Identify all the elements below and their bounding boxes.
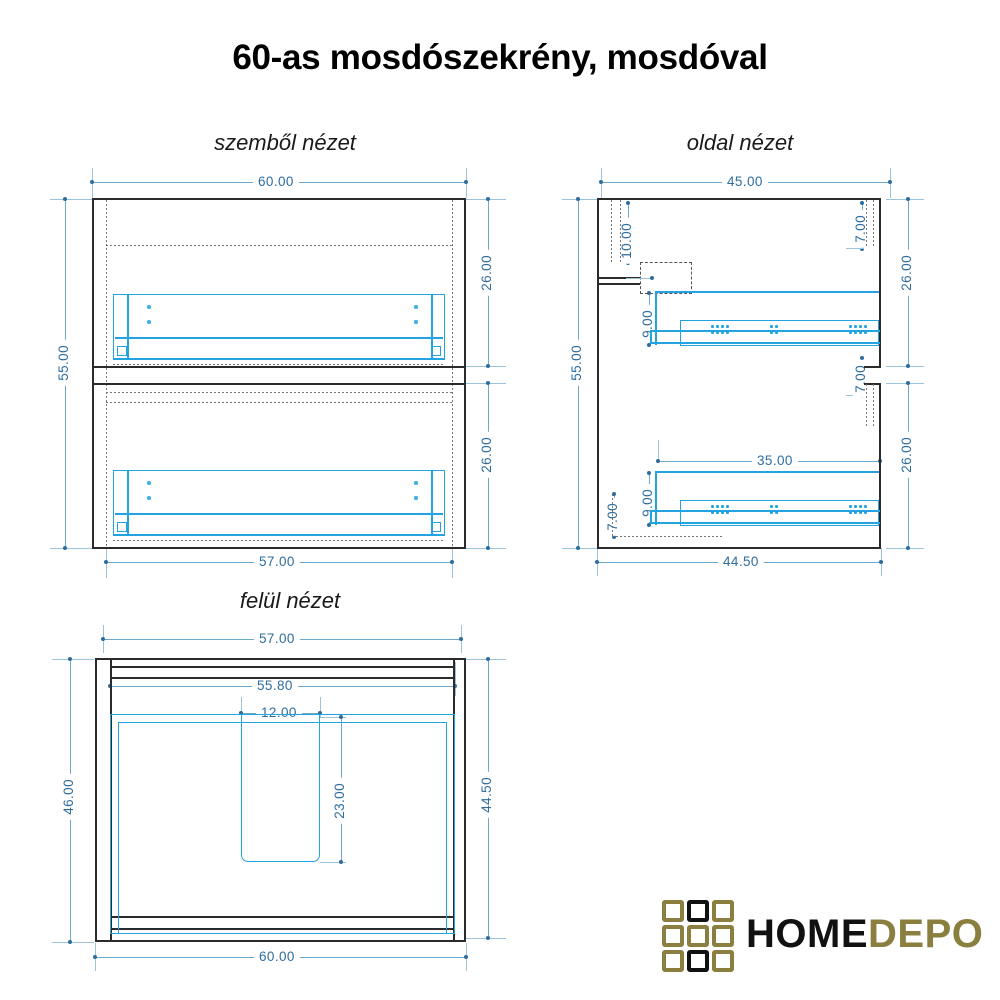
top-view-caption: felül nézet (215, 588, 365, 614)
front-upper-drawer-base-hidden (113, 364, 445, 365)
front-view-caption: szemből nézet (185, 130, 385, 156)
logo-tile-4 (662, 925, 684, 947)
side-back-panel-hidden-lower (866, 384, 867, 426)
side-back-panel-hidden-lower-2 (873, 384, 874, 426)
side-front-lower-hidden (612, 494, 613, 536)
drawing-sheet: 60-as mosdószekrény, mosdóval szemből né… (0, 0, 1000, 1000)
front-mid-rail-bottom (94, 383, 464, 385)
logo-tile-9 (712, 950, 734, 972)
side-bottom-hidden (612, 536, 722, 537)
logo-tile-3 (712, 900, 734, 922)
side-back-edge-upper (879, 198, 881, 366)
front-upper-hidden-line (106, 245, 452, 246)
top-sink-cutout (241, 714, 320, 862)
brand-logo: HOMEDEPO (662, 898, 992, 978)
top-back-rail-a (110, 666, 455, 668)
side-back-panel-hidden (866, 200, 867, 248)
front-lower-drawer-base-hidden (113, 540, 445, 541)
side-front-panel-hidden (611, 200, 612, 264)
side-front-panel-hidden-2 (620, 200, 621, 264)
logo-word-depo: DEPO (868, 912, 983, 956)
front-lower-hidden-line-a (106, 392, 452, 393)
front-right-panel-edge (452, 200, 453, 547)
page-title: 60-as mosdószekrény, mosdóval (0, 38, 1000, 78)
side-top-edge (597, 198, 881, 200)
logo-tile-1 (662, 900, 684, 922)
front-mid-rail-top (94, 366, 464, 368)
logo-tile-6 (712, 925, 734, 947)
top-back-rail-b (110, 677, 455, 679)
logo-tile-2 (687, 900, 709, 922)
logo-grid-icon (662, 900, 734, 972)
logo-tile-5 (687, 925, 709, 947)
logo-tile-7 (662, 950, 684, 972)
logo-wordmark: HOMEDEPO (746, 912, 983, 957)
side-front-edge (597, 198, 599, 549)
side-bottom-edge (597, 547, 881, 549)
front-lower-hidden-line-b (106, 402, 452, 403)
logo-tile-8 (687, 950, 709, 972)
side-upper-back-step (864, 366, 881, 368)
front-left-panel-edge (106, 200, 107, 547)
logo-word-home: HOME (746, 912, 868, 956)
side-view-caption: oldal nézet (665, 130, 815, 156)
side-back-panel-hidden-2 (873, 200, 874, 248)
